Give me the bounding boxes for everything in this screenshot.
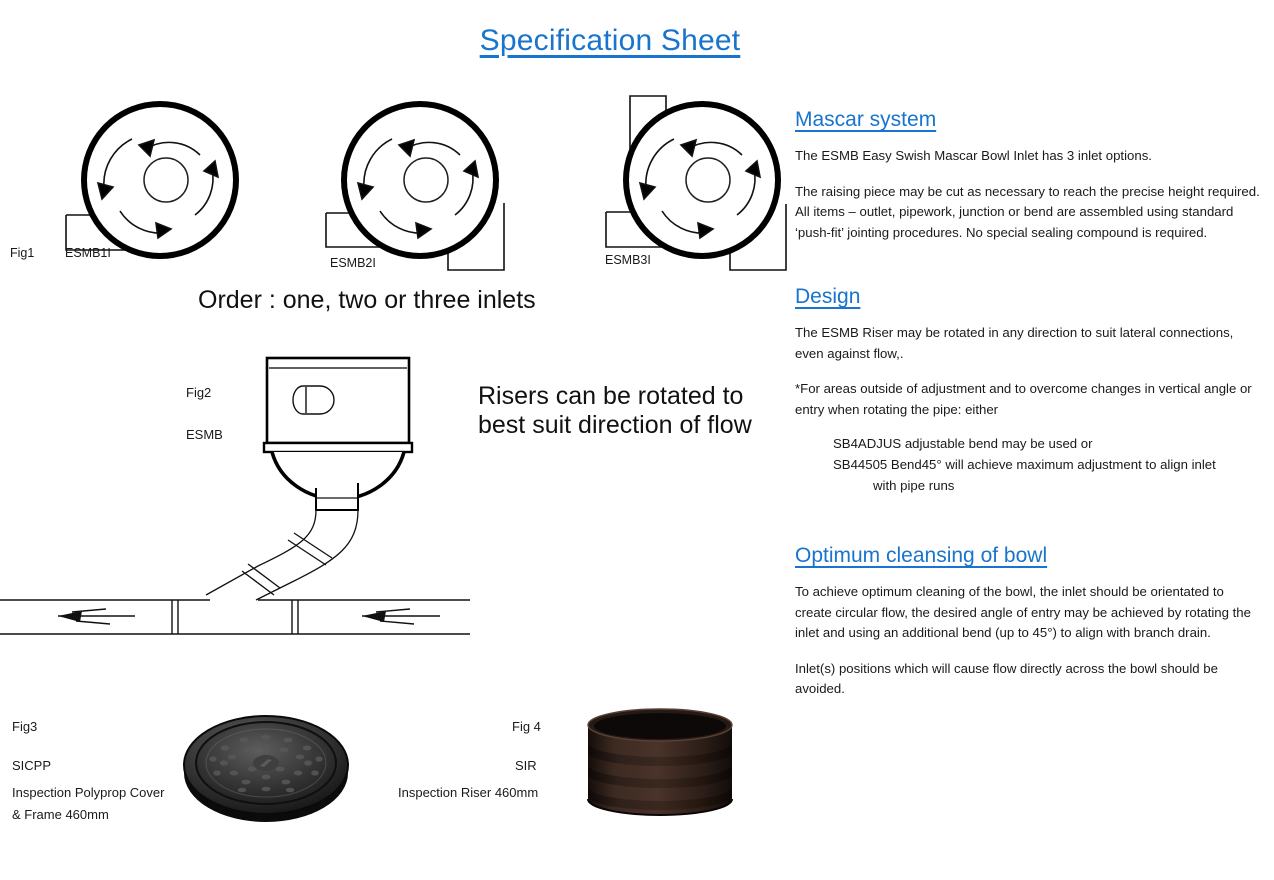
design-paragraph-1: The ESMB Riser may be rotated in any dir… — [795, 323, 1263, 364]
fig3-desc-line2: & Frame 460mm — [12, 807, 109, 822]
fig4-code: SIR — [515, 758, 537, 773]
heading-optimum-cleansing: Optimum cleansing of bowl — [795, 544, 1263, 568]
flow-arrow-icon — [362, 609, 440, 624]
fig2top-code: ESMB2I — [330, 256, 376, 270]
specification-text-column: Mascar system The ESMB Easy Swish Mascar… — [795, 108, 1263, 715]
design-paragraph-2: *For areas outside of adjustment and to … — [795, 379, 1263, 420]
optimum-paragraph-1: To achieve optimum cleaning of the bowl,… — [795, 582, 1263, 644]
fig3-tag: Fig3 — [12, 719, 37, 734]
inspection-cover-photo — [180, 697, 352, 827]
design-bullet-2: SB44505 Bend45° will achieve maximum adj… — [833, 454, 1263, 475]
riser-assembly-svg — [0, 350, 480, 650]
section-design: Design The ESMB Riser may be rotated in … — [795, 285, 1263, 496]
figure-esmb2i — [320, 95, 570, 280]
section-mascar-system: Mascar system The ESMB Easy Swish Mascar… — [795, 108, 1263, 243]
inspection-riser-photo — [580, 703, 740, 825]
riser-caption-line2: best suit direction of flow — [478, 411, 752, 440]
fig3-code: SICPP — [12, 758, 51, 773]
inspection-cover-svg — [180, 697, 352, 827]
order-caption: Order : one, two or three inlets — [198, 286, 536, 315]
design-bullet-1: SB4ADJUS adjustable bend may be used or — [833, 433, 1263, 454]
bowl-diagram-1-inlet — [60, 95, 300, 265]
fig1-code: ESMB1I — [65, 246, 111, 260]
inspection-riser-svg — [580, 703, 740, 825]
fig3-desc-line1: Inspection Polyprop Cover — [12, 785, 164, 800]
figure-esmb1i — [60, 95, 300, 265]
fig4-tag: Fig 4 — [512, 719, 541, 734]
optimum-paragraph-2: Inlet(s) positions which will cause flow… — [795, 659, 1263, 700]
section-optimum-cleansing: Optimum cleansing of bowl To achieve opt… — [795, 544, 1263, 700]
riser-caption-line1: Risers can be rotated to — [478, 382, 743, 411]
fig1-tag: Fig1 — [10, 246, 34, 260]
bowl-diagram-2-inlet — [320, 95, 570, 280]
heading-design: Design — [795, 285, 1263, 309]
design-bullet-group: SB4ADJUS adjustable bend may be used or … — [795, 433, 1263, 496]
mascar-paragraph-2: The raising piece may be cut as necessar… — [795, 182, 1263, 244]
page-title: Specification Sheet — [0, 24, 1220, 58]
fig3top-code: ESMB3I — [605, 253, 651, 267]
flow-arrow-icon — [58, 609, 135, 624]
riser-assembly-diagram — [0, 350, 480, 650]
design-bullet-2-continued: with pipe runs — [873, 475, 1263, 496]
fig4-desc: Inspection Riser 460mm — [398, 785, 538, 800]
mascar-paragraph-1: The ESMB Easy Swish Mascar Bowl Inlet ha… — [795, 146, 1263, 167]
heading-mascar-system: Mascar system — [795, 108, 1263, 132]
